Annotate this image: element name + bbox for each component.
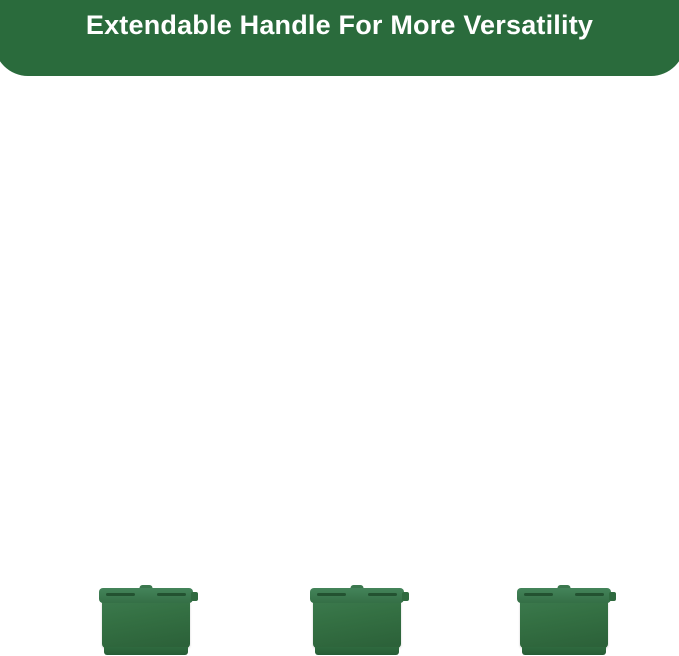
- mop-head-top-plate: [517, 588, 611, 603]
- mop-head-top-plate: [310, 588, 404, 603]
- mop-head-slot-right: [157, 593, 186, 596]
- infographic-canvas: Extendable Handle For More Versatility: [0, 0, 679, 656]
- mop-head-top-plate: [99, 588, 193, 603]
- mop-head-slot-left: [317, 593, 346, 596]
- mop-head-medium: [313, 598, 401, 648]
- header-banner: Extendable Handle For More Versatility: [0, 0, 679, 76]
- mop-head-tab: [402, 592, 409, 601]
- mop-head-slot-left: [106, 593, 135, 596]
- mop-head-compact: [102, 598, 190, 648]
- mop-head-slot-left: [524, 593, 553, 596]
- mop-head-tab: [191, 592, 198, 601]
- mop-head-tab: [609, 592, 616, 601]
- page-title: Extendable Handle For More Versatility: [0, 10, 679, 41]
- mop-head-extended: [520, 598, 608, 648]
- mop-head-slot-right: [575, 593, 604, 596]
- mop-head-slot-right: [368, 593, 397, 596]
